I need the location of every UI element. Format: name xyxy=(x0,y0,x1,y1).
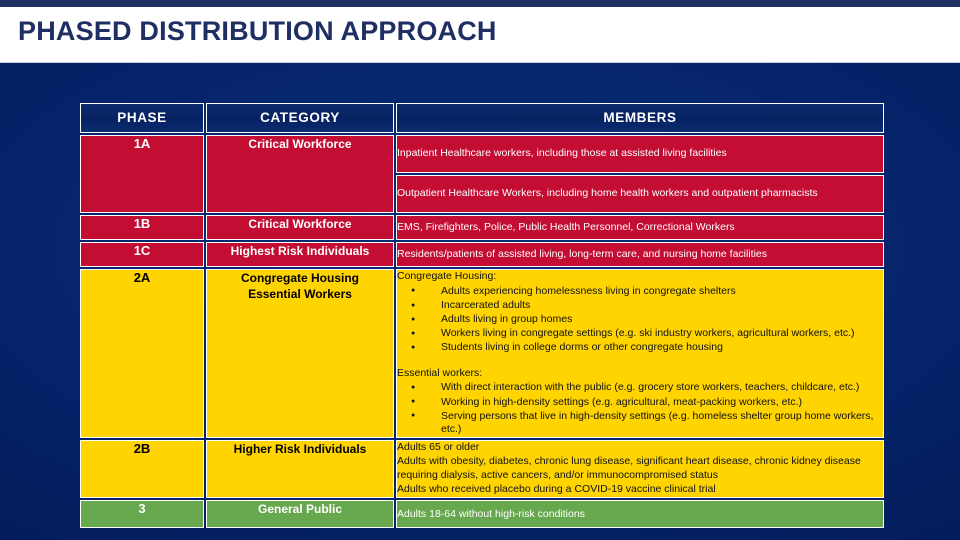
list-item: Working in high-density settings (e.g. a… xyxy=(411,396,883,410)
column-header-phase: PHASE xyxy=(80,103,204,133)
members-2b-line2: Adults with obesity, diabetes, chronic l… xyxy=(397,455,883,483)
cell-members-1b: EMS, Firefighters, Police, Public Health… xyxy=(396,215,884,240)
table-row: 1A Critical Workforce Inpatient Healthca… xyxy=(80,135,884,173)
members-2b-line1: Adults 65 or older xyxy=(397,441,883,455)
list-item: Workers living in congregate settings (e… xyxy=(411,327,883,341)
cell-members-1a-inpatient: Inpatient Healthcare workers, including … xyxy=(396,135,884,173)
table-header-row: PHASE CATEGORY MEMBERS xyxy=(80,103,884,133)
list-item: Adults experiencing homelessness living … xyxy=(411,285,883,299)
cell-category-1a: Critical Workforce xyxy=(206,135,394,213)
cell-phase-1c: 1C xyxy=(80,242,204,267)
cell-category-1c: Highest Risk Individuals xyxy=(206,242,394,267)
table-row: 2A Congregate Housing Essential Workers … xyxy=(80,269,884,438)
cell-members-2b: Adults 65 or older Adults with obesity, … xyxy=(396,440,884,498)
cell-members-2a: Congregate Housing: Adults experiencing … xyxy=(396,269,884,438)
cell-phase-2b: 2B xyxy=(80,440,204,498)
cell-category-3: General Public xyxy=(206,500,394,528)
cell-phase-3: 3 xyxy=(80,500,204,528)
list-item: Serving persons that live in high-densit… xyxy=(411,410,883,437)
phased-distribution-table-wrapper: PHASE CATEGORY MEMBERS 1A Critical Workf… xyxy=(78,101,880,530)
list-item: With direct interaction with the public … xyxy=(411,381,883,395)
cell-category-2a: Congregate Housing Essential Workers xyxy=(206,269,394,438)
cell-members-1c: Residents/patients of assisted living, l… xyxy=(396,242,884,267)
table-row: 1C Highest Risk Individuals Residents/pa… xyxy=(80,242,884,267)
members-2a-group2-bullets: With direct interaction with the public … xyxy=(397,381,883,437)
cell-members-1a-outpatient: Outpatient Healthcare Workers, including… xyxy=(396,175,884,213)
cell-category-2a-line2: Essential Workers xyxy=(248,287,352,301)
top-accent-bar xyxy=(0,0,960,7)
members-2a-group-gap xyxy=(397,356,883,367)
list-item: Incarcerated adults xyxy=(411,299,883,313)
phased-distribution-table: PHASE CATEGORY MEMBERS 1A Critical Workf… xyxy=(78,101,886,530)
members-2a-group1-heading: Congregate Housing: xyxy=(397,270,883,284)
list-item: Adults living in group homes xyxy=(411,313,883,327)
page-title: PHASED DISTRIBUTION APPROACH xyxy=(18,16,497,47)
table-row: 3 General Public Adults 18-64 without hi… xyxy=(80,500,884,528)
cell-phase-2a: 2A xyxy=(80,269,204,438)
members-2b-line3: Adults who received placebo during a COV… xyxy=(397,483,883,497)
column-header-category: CATEGORY xyxy=(206,103,394,133)
cell-category-2a-line1: Congregate Housing xyxy=(241,271,359,285)
cell-category-2b: Higher Risk Individuals xyxy=(206,440,394,498)
table-row: 2B Higher Risk Individuals Adults 65 or … xyxy=(80,440,884,498)
members-2a-group1-bullets: Adults experiencing homelessness living … xyxy=(397,285,883,355)
cell-members-3: Adults 18-64 without high-risk condition… xyxy=(396,500,884,528)
members-2a-group2-heading: Essential workers: xyxy=(397,367,883,381)
column-header-members: MEMBERS xyxy=(396,103,884,133)
cell-phase-1a: 1A xyxy=(80,135,204,213)
cell-category-1b: Critical Workforce xyxy=(206,215,394,240)
table-row: 1B Critical Workforce EMS, Firefighters,… xyxy=(80,215,884,240)
slide-canvas: PHASED DISTRIBUTION APPROACH PHASE CATEG… xyxy=(0,0,960,540)
cell-phase-1b: 1B xyxy=(80,215,204,240)
list-item: Students living in college dorms or othe… xyxy=(411,341,883,355)
